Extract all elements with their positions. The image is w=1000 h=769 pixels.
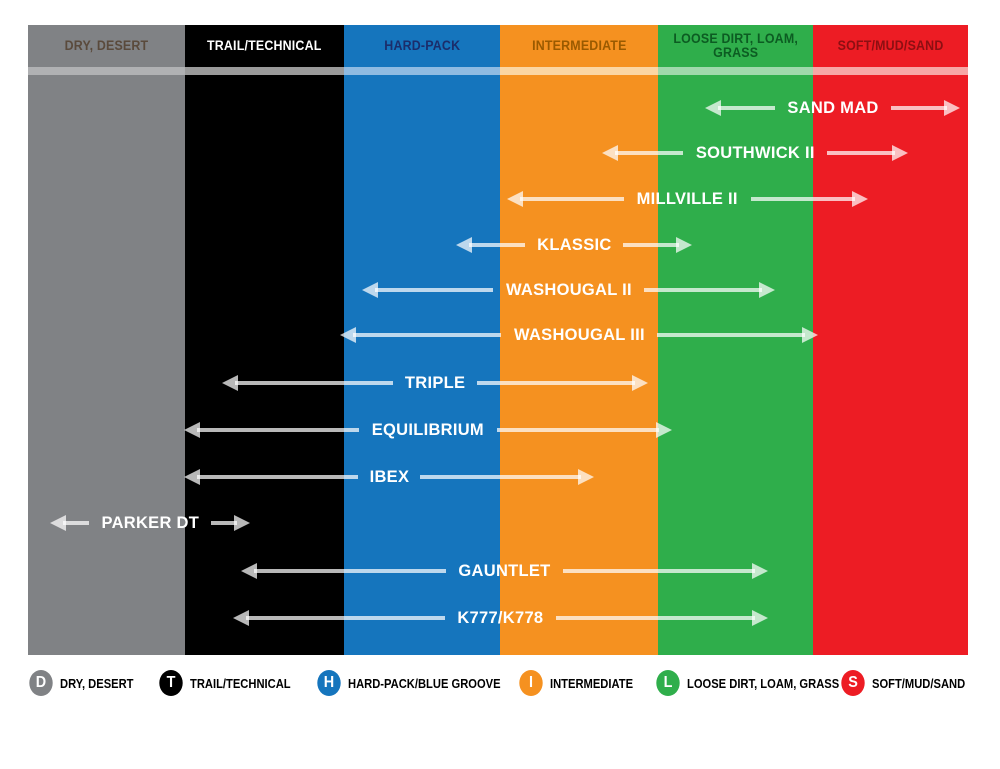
header-label-intermediate: INTERMEDIATE — [532, 39, 626, 53]
header-label-trail: TRAIL/TECHNICAL — [207, 39, 322, 53]
arrow-left-line — [63, 521, 89, 525]
legend-badge-icon: S — [841, 670, 864, 696]
terrain-body-band: SAND MADSOUTHWICK IIMILLVILLE IIKLASSICW… — [28, 75, 968, 655]
separator-segment-hard-pack — [344, 67, 500, 75]
arrow-right-icon — [420, 464, 594, 490]
legend-label: DRY, DESERT — [60, 676, 134, 691]
arrow-left-icon — [340, 322, 501, 348]
legend-badge-icon: T — [159, 670, 182, 696]
arrow-left-line — [235, 381, 393, 385]
header-cell-trail: TRAIL/TECHNICAL — [185, 25, 344, 67]
header-separator — [28, 67, 968, 75]
arrow-right-icon — [563, 558, 768, 584]
arrow-left-icon — [184, 464, 358, 490]
arrow-right-icon — [644, 277, 775, 303]
tire-name-label: WASHOUGAL II — [495, 280, 642, 300]
arrow-right-head-icon — [892, 145, 908, 161]
tire-range-row[interactable]: IBEX — [184, 464, 594, 490]
tire-rows-layer: SAND MADSOUTHWICK IIMILLVILLE IIKLASSICW… — [28, 75, 968, 655]
arrow-right-icon — [751, 186, 868, 212]
tire-name-label: EQUILIBRIUM — [361, 420, 495, 440]
header-cell-intermediate: INTERMEDIATE — [500, 25, 658, 67]
header-label-dry-desert: DRY, DESERT — [65, 39, 149, 53]
legend-item-t[interactable]: TTRAIL/TECHNICAL — [158, 670, 307, 696]
arrow-right-icon — [623, 232, 692, 258]
legend-badge-icon: I — [519, 670, 542, 696]
tire-range-row[interactable]: PARKER DT — [50, 510, 250, 536]
arrow-right-line — [751, 197, 855, 201]
tire-name-label: TRIPLE — [394, 373, 476, 393]
legend-item-i[interactable]: IINTERMEDIATE — [518, 670, 647, 696]
tire-name-label: K777/K778 — [447, 608, 554, 628]
arrow-left-icon — [602, 140, 683, 166]
arrow-right-icon — [211, 510, 250, 536]
arrow-right-icon — [891, 95, 961, 121]
terrain-tire-chart: DRY, DESERTTRAIL/TECHNICALHARD-PACKINTER… — [0, 0, 1000, 769]
arrow-right-icon — [556, 605, 768, 631]
arrow-left-icon — [233, 605, 445, 631]
tire-range-row[interactable]: WASHOUGAL III — [340, 322, 818, 348]
legend-badge-icon: H — [317, 670, 340, 696]
legend-badge-icon: L — [656, 670, 679, 696]
tire-range-row[interactable]: TRIPLE — [222, 370, 648, 396]
arrow-right-head-icon — [759, 282, 775, 298]
legend-badge-icon: D — [29, 670, 52, 696]
legend-label: INTERMEDIATE — [550, 676, 633, 691]
tire-name-label: IBEX — [359, 467, 420, 487]
tire-range-row[interactable]: K777/K778 — [233, 605, 768, 631]
tire-name-label: SOUTHWICK II — [685, 143, 825, 163]
arrow-left-icon — [705, 95, 775, 121]
terrain-header-band: DRY, DESERTTRAIL/TECHNICALHARD-PACKINTER… — [28, 25, 968, 67]
arrow-left-line — [246, 616, 445, 620]
arrow-right-line — [497, 428, 659, 432]
arrow-left-icon — [184, 417, 359, 443]
header-label-soft-mud: SOFT/MUD/SAND — [838, 39, 944, 53]
header-label-hard-pack: HARD-PACK — [384, 39, 460, 53]
tire-name-label: SAND MAD — [776, 98, 889, 118]
arrow-left-icon — [507, 186, 624, 212]
tire-range-row[interactable]: WASHOUGAL II — [362, 277, 775, 303]
arrow-left-line — [615, 151, 683, 155]
arrow-right-icon — [497, 417, 672, 443]
separator-segment-trail — [185, 67, 344, 75]
arrow-right-head-icon — [656, 422, 672, 438]
arrow-right-line — [827, 151, 895, 155]
arrow-left-line — [520, 197, 624, 201]
legend-item-h[interactable]: HHARD-PACK/BLUE GROOVE — [316, 670, 525, 696]
tire-range-row[interactable]: SOUTHWICK II — [602, 140, 908, 166]
arrow-left-icon — [362, 277, 493, 303]
tire-name-label: WASHOUGAL III — [503, 325, 655, 345]
separator-segment-dry-desert — [28, 67, 185, 75]
legend-item-l[interactable]: LLOOSE DIRT, LOAM, GRASS — [655, 670, 864, 696]
tire-range-row[interactable]: SAND MAD — [705, 95, 960, 121]
arrow-right-head-icon — [234, 515, 250, 531]
tire-range-row[interactable]: KLASSIC — [456, 232, 692, 258]
legend-item-s[interactable]: SSOFT/MUD/SAND — [840, 670, 980, 696]
arrow-left-line — [254, 569, 446, 573]
header-cell-hard-pack: HARD-PACK — [344, 25, 500, 67]
arrow-left-icon — [241, 558, 446, 584]
tire-name-label: KLASSIC — [526, 235, 622, 255]
arrow-right-head-icon — [752, 610, 768, 626]
legend-label: SOFT/MUD/SAND — [872, 676, 965, 691]
arrow-left-icon — [456, 232, 525, 258]
arrow-right-head-icon — [676, 237, 692, 253]
arrow-left-icon — [222, 370, 393, 396]
header-cell-loose-dirt: LOOSE DIRT, LOAM, GRASS — [658, 25, 813, 67]
arrow-right-head-icon — [852, 191, 868, 207]
header-label-loose-dirt: LOOSE DIRT, LOAM, GRASS — [673, 32, 798, 60]
arrow-right-line — [644, 288, 762, 292]
tire-range-row[interactable]: GAUNTLET — [241, 558, 768, 584]
arrow-left-line — [469, 243, 525, 247]
legend-label: HARD-PACK/BLUE GROOVE — [348, 676, 501, 691]
arrow-right-head-icon — [578, 469, 594, 485]
arrow-right-icon — [477, 370, 648, 396]
arrow-left-line — [197, 428, 359, 432]
legend-label: LOOSE DIRT, LOAM, GRASS — [687, 676, 839, 691]
arrow-right-head-icon — [752, 563, 768, 579]
header-cell-dry-desert: DRY, DESERT — [28, 25, 185, 67]
separator-segment-intermediate — [500, 67, 658, 75]
arrow-left-line — [353, 333, 501, 337]
legend-item-d[interactable]: DDRY, DESERT — [28, 670, 145, 696]
arrow-left-line — [197, 475, 358, 479]
arrow-left-line — [375, 288, 493, 292]
separator-segment-soft-mud — [813, 67, 968, 75]
arrow-right-line — [657, 333, 805, 337]
tire-name-label: GAUNTLET — [448, 561, 561, 581]
arrow-right-head-icon — [632, 375, 648, 391]
legend-label: TRAIL/TECHNICAL — [190, 676, 291, 691]
arrow-right-line — [563, 569, 755, 573]
arrow-right-icon — [657, 322, 818, 348]
tire-range-row[interactable]: MILLVILLE II — [507, 186, 868, 212]
arrow-right-line — [477, 381, 635, 385]
arrow-right-line — [891, 106, 948, 110]
tire-name-label: PARKER DT — [91, 513, 210, 533]
arrow-left-line — [718, 106, 775, 110]
tire-name-label: MILLVILLE II — [626, 189, 749, 209]
arrow-right-head-icon — [944, 100, 960, 116]
separator-segment-loose-dirt — [658, 67, 813, 75]
arrow-left-icon — [50, 510, 89, 536]
arrow-right-head-icon — [802, 327, 818, 343]
terrain-legend: DDRY, DESERTTTRAIL/TECHNICALHHARD-PACK/B… — [28, 663, 968, 703]
arrow-right-line — [556, 616, 755, 620]
arrow-right-line — [623, 243, 679, 247]
arrow-right-icon — [827, 140, 908, 166]
arrow-right-line — [420, 475, 581, 479]
header-cell-soft-mud: SOFT/MUD/SAND — [813, 25, 968, 67]
tire-range-row[interactable]: EQUILIBRIUM — [184, 417, 672, 443]
